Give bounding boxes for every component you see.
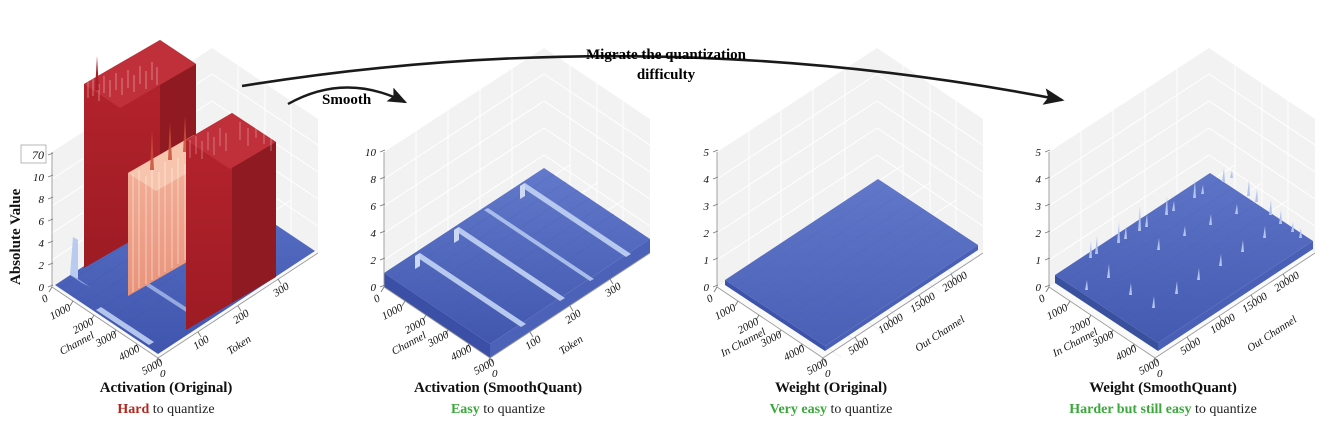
z-axis-ticks: 0 2 4 6 8 10 70 — [21, 145, 53, 294]
smooth-annotation-label: Smooth — [322, 92, 371, 109]
x-tick: 1000 — [713, 301, 738, 322]
z-tick: 2 — [1036, 228, 1042, 240]
caption-emphasis: Harder but still easy — [1069, 402, 1191, 417]
x-tick: 0 — [40, 292, 51, 305]
y-tick: 0 — [825, 368, 831, 380]
y-tick: 100 — [523, 333, 544, 352]
z-axis-ticks: 0 2 4 6 8 10 — [365, 147, 385, 294]
x-tick: 1000 — [380, 301, 405, 322]
x-tick: 4000 — [1114, 342, 1140, 363]
panel-caption-title: Weight (Original) — [665, 380, 997, 397]
y-axis-label: Token — [225, 333, 254, 357]
z-tick: 8 — [39, 194, 45, 206]
z-axis-ticks: 0 1 2 3 4 5 — [1035, 147, 1051, 294]
z-tick: 3 — [703, 201, 710, 213]
z-tick: 10 — [365, 147, 377, 159]
x-tick: 1000 — [1045, 301, 1071, 322]
panel-activation-original: 0 2 4 6 8 10 70 Absolute Value 0 1000 — [0, 0, 332, 436]
y-axis-label: Out Channel — [1245, 314, 1299, 355]
z-tick: 5 — [704, 147, 710, 159]
y-axis-label: Token — [557, 333, 586, 357]
caption-emphasis: Hard — [117, 402, 149, 417]
panel-caption-sub: Hard to quantize — [0, 402, 332, 418]
z-tick: 2 — [39, 260, 45, 272]
panel-caption-title: Activation (Original) — [0, 380, 332, 397]
plot-weight-smoothquant: 0 1 2 3 4 5 0 1000 2000 3000 4000 5000 — [997, 0, 1329, 436]
z-tick: 1 — [1036, 255, 1042, 267]
panel-caption-title: Weight (SmoothQuant) — [997, 380, 1329, 397]
x-tick: 0 — [705, 292, 716, 305]
migrate-line-2: difficulty — [637, 67, 695, 83]
caption-emphasis: Easy — [451, 402, 480, 417]
z-axis-ticks: 0 1 2 3 4 5 — [703, 147, 719, 294]
z-axis-label: Absolute Value — [8, 188, 24, 285]
z-tick: 6 — [39, 216, 45, 228]
panel-weight-smoothquant: 0 1 2 3 4 5 0 1000 2000 3000 4000 5000 — [997, 0, 1329, 436]
caption-rest: to quantize — [827, 402, 892, 417]
x-tick: 0 — [372, 292, 383, 305]
x-tick: 4000 — [782, 342, 807, 363]
migrate-annotation-label: Migrate the quantization difficulty — [546, 45, 786, 85]
panel-caption-sub: Harder but still easy to quantize — [997, 402, 1329, 418]
y-tick: 200 — [231, 307, 252, 326]
y-tick: 300 — [270, 280, 292, 300]
z-tick: 4 — [371, 228, 377, 240]
z-tick-break: 70 — [32, 148, 44, 162]
y-tick: 0 — [492, 368, 498, 380]
z-tick: 1 — [704, 255, 710, 267]
z-tick: 4 — [39, 238, 45, 250]
z-tick: 4 — [1036, 174, 1042, 186]
z-tick: 5 — [1036, 147, 1042, 159]
z-tick: 2 — [704, 228, 710, 240]
y-axis-label: Out Channel — [913, 314, 967, 355]
x-tick: 4000 — [449, 342, 474, 363]
z-tick: 3 — [1035, 201, 1042, 213]
panel-caption-sub: Easy to quantize — [332, 402, 664, 418]
x-tick: 1000 — [48, 301, 73, 322]
caption-emphasis: Very easy — [770, 402, 827, 417]
panel-caption-sub: Very easy to quantize — [665, 402, 997, 418]
plot-activation-original: 0 2 4 6 8 10 70 Absolute Value 0 1000 — [0, 0, 332, 436]
y-tick: 200 — [563, 307, 584, 326]
caption-rest: to quantize — [480, 402, 545, 417]
smoothquant-figure: 0 2 4 6 8 10 70 Absolute Value 0 1000 — [0, 0, 1329, 436]
z-tick: 6 — [371, 201, 377, 213]
z-tick: 4 — [704, 174, 710, 186]
z-tick: 2 — [371, 255, 377, 267]
z-tick: 10 — [33, 172, 45, 184]
y-tick: 0 — [160, 368, 166, 380]
migrate-line-1: Migrate the quantization — [586, 47, 746, 63]
caption-rest: to quantize — [149, 402, 214, 417]
y-tick: 0 — [1157, 368, 1163, 380]
y-tick: 300 — [602, 280, 624, 300]
caption-rest: to quantize — [1191, 402, 1256, 417]
x-tick: 0 — [1037, 292, 1048, 305]
panel-caption-title: Activation (SmoothQuant) — [332, 380, 664, 397]
x-tick: 4000 — [117, 342, 142, 363]
z-tick: 8 — [371, 174, 377, 186]
activation-outlier-band-dark-red-2 — [186, 113, 276, 330]
y-tick: 100 — [191, 333, 212, 352]
